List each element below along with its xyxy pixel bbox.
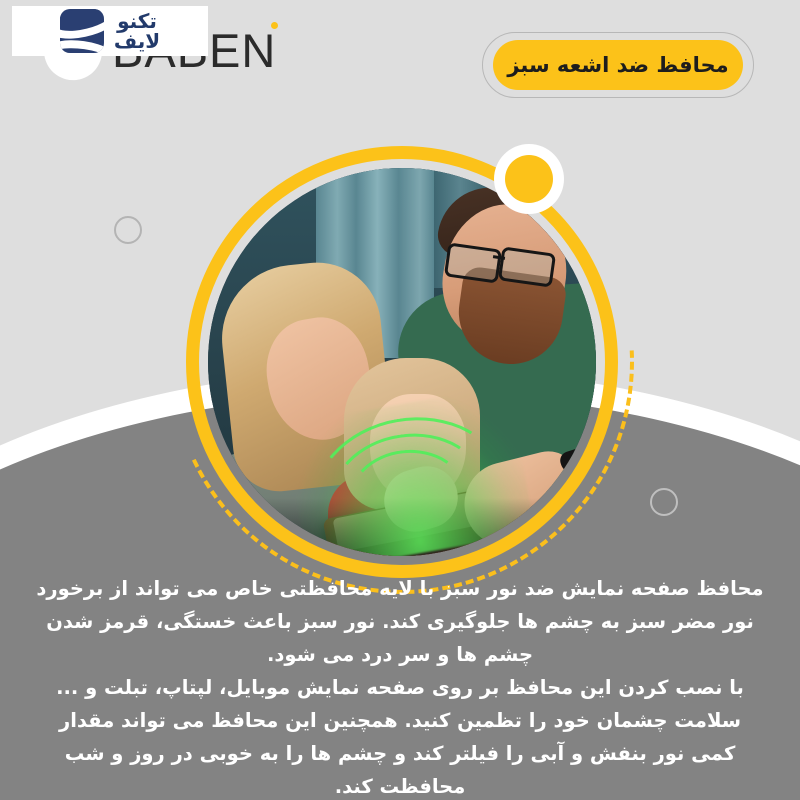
description-paragraph-2: با نصب کردن این محافظ بر روی صفحه نمایش …	[34, 671, 766, 800]
decorative-circle-top-left	[114, 216, 142, 244]
banner-canvas: BABEN تکنو لایف محافظ ضد اشعه سبز محافظ …	[0, 0, 800, 800]
watermark-line-1: تکنو	[114, 11, 160, 31]
accent-dot	[505, 155, 553, 203]
watermark-logo-icon	[60, 9, 104, 53]
decorative-circle-bottom-right	[650, 488, 678, 516]
photo-man-glasses-right	[498, 246, 556, 287]
watermark-line-2: لایف	[114, 31, 160, 51]
hero-photo-ring	[186, 146, 618, 578]
product-title-badge[interactable]: محافظ ضد اشعه سبز	[482, 32, 754, 98]
family-photo	[208, 168, 596, 556]
watermark-text: تکنو لایف	[114, 11, 160, 51]
product-description: محافظ صفحه نمایش ضد نور سبز با لایه محاف…	[34, 572, 766, 800]
product-title-text: محافظ ضد اشعه سبز	[507, 53, 728, 77]
description-paragraph-1: محافظ صفحه نمایش ضد نور سبز با لایه محاف…	[34, 572, 766, 671]
watermark-badge: تکنو لایف	[12, 6, 208, 56]
photo-man-glasses-left	[444, 242, 502, 283]
product-title-badge-fill: محافظ ضد اشعه سبز	[493, 40, 743, 90]
